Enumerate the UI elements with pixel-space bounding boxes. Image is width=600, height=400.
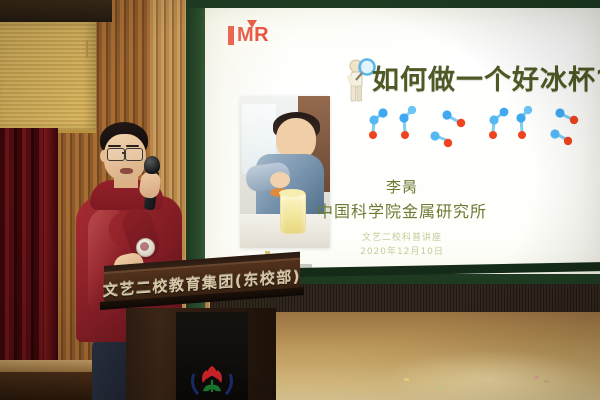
slide-presenter-organization: 中国科学院金属研究所 [204,198,600,222]
floor-reflection-fleck [404,378,409,381]
water-molecule-group [364,106,594,166]
wall-header-panel [0,0,112,22]
badge-inner-ring [140,242,149,251]
imr-logo-bar [228,26,234,45]
floor-reflection-fleck [436,386,441,389]
floor-reflection-fleck [544,380,549,383]
slide-presenter-name: 李昺 [204,176,600,197]
speaker-eyebrow-right [126,145,139,147]
slide-photo-boy-with-cup [240,96,330,248]
floor-reflection-fleck [534,376,539,379]
slide-event-name: 文艺二校科普讲座 [204,230,600,243]
slide-title: 如何做一个好冰杯? [372,58,600,97]
eyeglasses-bridge [122,152,126,154]
microphone-head [144,156,160,174]
school-emblem-tulip-icon [188,352,236,400]
stage-curtain-fold [44,128,58,368]
eyeglasses-lens-right [125,148,143,161]
stage-floor-highlight [380,350,600,400]
projection-screen: MR 如何做一个好冰杯? [204,8,600,274]
imr-logo-text: MR [237,25,269,45]
blind-pull-rod [86,40,88,58]
speaker-eyebrow-left [108,145,121,147]
speaker-mouth [120,168,133,174]
eyeglasses-icon [107,148,125,161]
lecture-hall-photo: MR 如何做一个好冰杯? [0,0,600,400]
